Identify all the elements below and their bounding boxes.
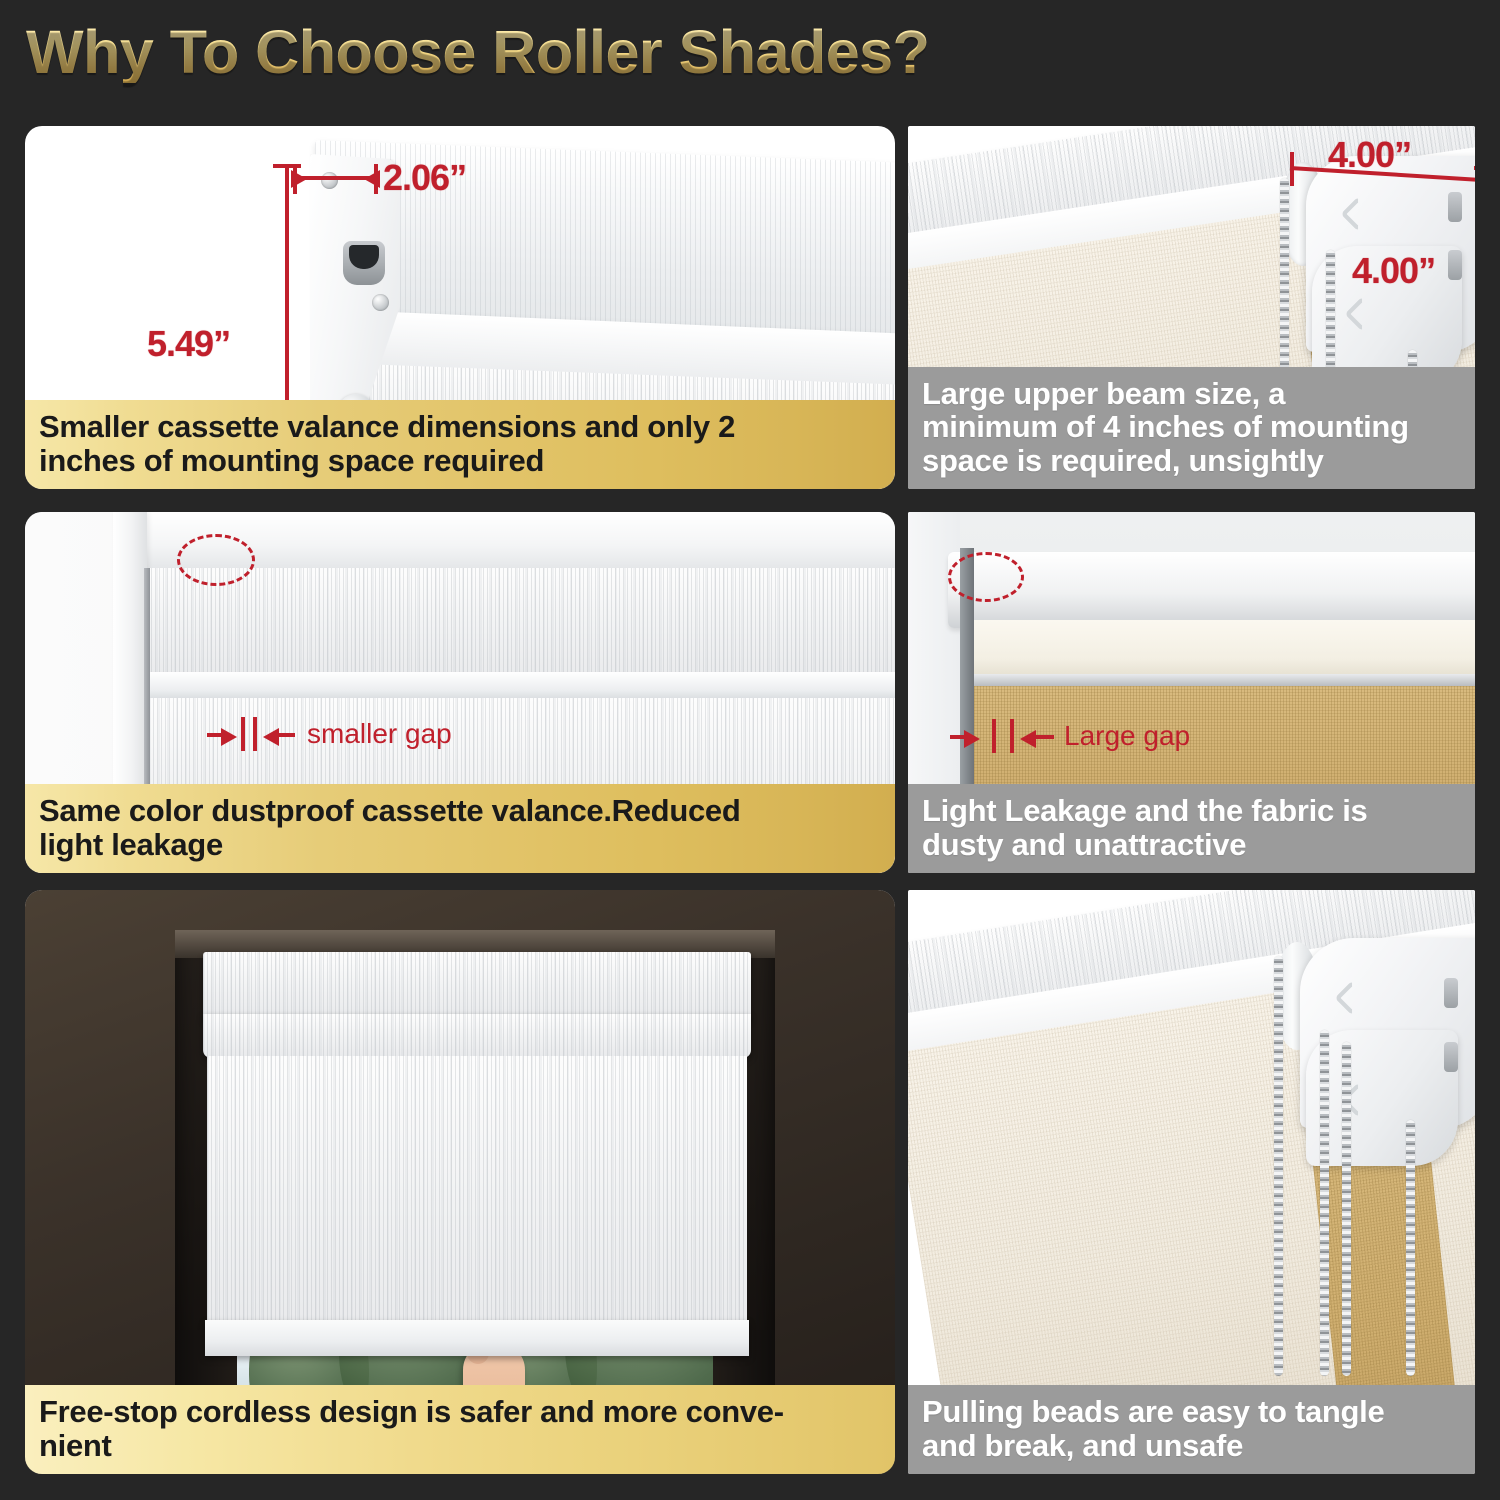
valance-face	[970, 620, 1475, 676]
gap-arrow-stem	[279, 733, 295, 737]
valance-lip	[147, 672, 895, 698]
bracket-slot	[1448, 250, 1462, 280]
valance-lip	[203, 1014, 751, 1058]
dimension-height-label: 4.00”	[1352, 250, 1435, 292]
caption-line: Free-stop cordless design is safer and m…	[39, 1395, 881, 1428]
caption-line: Same color dustproof cassette valance.Re…	[39, 794, 881, 827]
gap-arrow-stem	[1036, 735, 1054, 739]
bead-chain	[1406, 1120, 1415, 1376]
dim-arrow-left	[364, 170, 380, 188]
gap-arrow-stem	[950, 735, 966, 739]
caption-line: minimum of 4 inches of mounting	[922, 410, 1461, 443]
gap-callout-label: smaller gap	[307, 718, 452, 750]
dim-arrow-right	[291, 170, 307, 188]
panel-light-leakage: Large gap Light Leakage and the fabric i…	[908, 512, 1475, 873]
panel-pulling-beads: Pulling beads are easy to tangle and bre…	[908, 890, 1475, 1474]
dimension-width-label: 4.00”	[1328, 134, 1411, 176]
gap-callout-label: Large gap	[1064, 720, 1190, 752]
bracket-slot	[1444, 978, 1458, 1008]
cassette-head-rail	[203, 952, 751, 1020]
gap-tick	[241, 717, 245, 751]
bead-chain	[1320, 1030, 1329, 1376]
bead-chain	[1342, 1042, 1351, 1376]
gap-arrow-right	[221, 728, 237, 746]
gap-arrow-stem	[207, 733, 223, 737]
caption-line: space is required, unsightly	[922, 444, 1461, 477]
caption-line: light leakage	[39, 828, 881, 861]
infographic-root: Why To Choose Roller Shades? 2.06” 5.49”	[0, 0, 1500, 1500]
dimension-width-label: 2.06”	[383, 157, 466, 199]
gap-tick	[1010, 719, 1014, 753]
valance-slot	[343, 241, 385, 285]
caption-line: Smaller cassette valance dimensions and …	[39, 410, 881, 443]
screw-icon	[321, 172, 338, 189]
panel-smaller-cassette: 2.06” 5.49” Smaller cassette valance dim…	[25, 126, 895, 489]
highlight-circle-icon	[948, 552, 1024, 602]
gap-arrow-right	[964, 730, 980, 748]
panel-cordless-design: Free-stop cordless design is safer and m…	[25, 890, 895, 1474]
shade-fabric	[207, 1056, 747, 1326]
caption-line: nient	[39, 1429, 881, 1462]
bracket-slot	[1444, 1042, 1458, 1072]
caption-line: Large upper beam size, a	[922, 377, 1461, 410]
panel-large-upper-beam: 4.00” 4.00” Large upper beam size, a min…	[908, 126, 1475, 489]
caption-line: Pulling beads are easy to tangle	[922, 1395, 1461, 1428]
panel-dustproof-valance: smaller gap Same color dustproof cassett…	[25, 512, 895, 873]
caption-pulling-beads: Pulling beads are easy to tangle and bre…	[908, 1385, 1475, 1474]
page-title: Why To Choose Roller Shades?	[26, 22, 929, 83]
bottom-bar	[970, 674, 1475, 686]
bracket-slot	[1448, 192, 1462, 222]
caption-line: and break, and unsafe	[922, 1429, 1461, 1462]
caption-cordless-design: Free-stop cordless design is safer and m…	[25, 1385, 895, 1474]
highlight-circle-icon	[177, 534, 255, 586]
caption-line: Light Leakage and the fabric is	[922, 794, 1461, 827]
caption-smaller-cassette: Smaller cassette valance dimensions and …	[25, 400, 895, 489]
gap-tick	[253, 717, 257, 751]
head-rail	[948, 552, 1475, 628]
gap-arrow-left	[1020, 730, 1036, 748]
dimension-height-label: 5.49”	[147, 323, 230, 365]
gap-arrow-left	[263, 728, 279, 746]
caption-large-upper-beam: Large upper beam size, a minimum of 4 in…	[908, 367, 1475, 489]
hem-bar	[205, 1320, 749, 1356]
caption-light-leakage: Light Leakage and the fabric is dusty an…	[908, 784, 1475, 873]
dim-tick-top	[1474, 166, 1475, 170]
bead-chain	[1274, 956, 1283, 1376]
caption-dustproof-valance: Same color dustproof cassette valance.Re…	[25, 784, 895, 873]
caption-line: dusty and unattractive	[922, 828, 1461, 861]
caption-line: inches of mounting space required	[39, 444, 881, 477]
cassette-valance	[147, 568, 895, 680]
screw-icon	[372, 294, 389, 311]
gap-tick	[992, 719, 996, 753]
